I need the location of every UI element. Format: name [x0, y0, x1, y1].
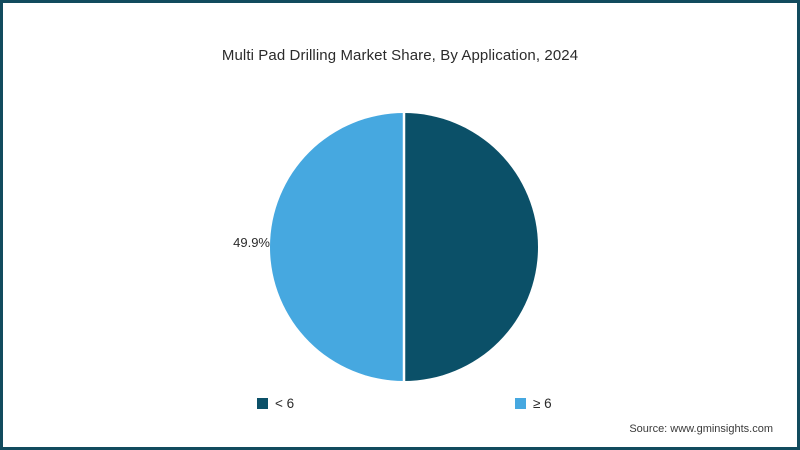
chart-card: Multi Pad Drilling Market Share, By Appl… [0, 0, 800, 450]
legend-item-lt-6[interactable]: < 6 [257, 397, 294, 411]
legend-label-gte-6: ≥ 6 [533, 397, 552, 411]
legend-label-lt-6: < 6 [275, 397, 294, 411]
legend-swatch-lt-6 [257, 398, 268, 409]
slice-label-gte-6: 49.9% [210, 235, 270, 250]
chart-canvas: Multi Pad Drilling Market Share, By Appl… [3, 3, 797, 447]
legend: < 6 ≥ 6 [3, 397, 797, 415]
pie-slice-gte-6[interactable] [270, 113, 404, 381]
pie-chart [270, 113, 538, 381]
legend-item-gte-6[interactable]: ≥ 6 [515, 397, 552, 411]
pie-chart-svg [270, 113, 538, 381]
legend-swatch-gte-6 [515, 398, 526, 409]
page-title: Multi Pad Drilling Market Share, By Appl… [3, 47, 797, 64]
source-attribution: Source: www.gminsights.com [629, 423, 773, 435]
pie-slice-lt-6[interactable] [404, 113, 538, 381]
